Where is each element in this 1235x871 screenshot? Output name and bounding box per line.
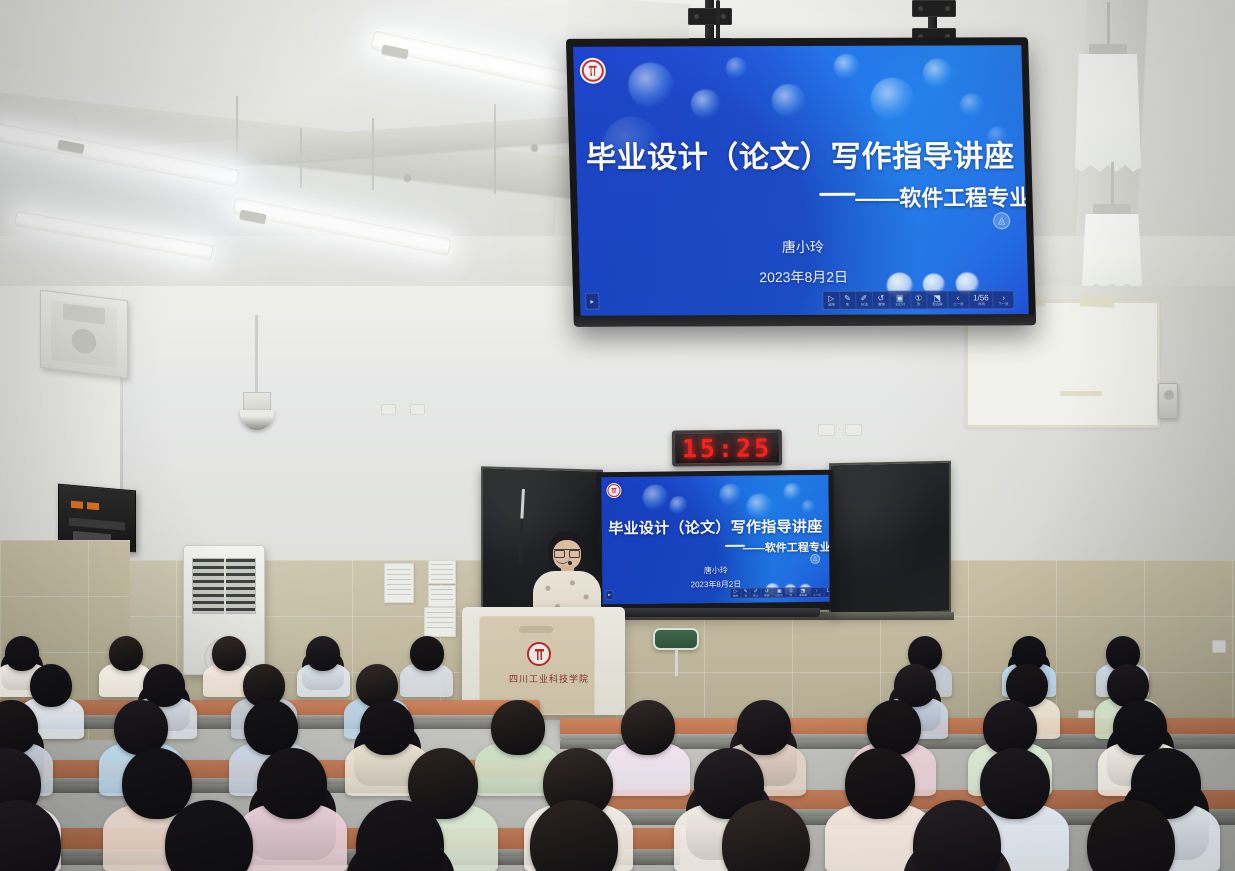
slide-subtitle: ——软件工程专业 [855, 180, 1029, 213]
slide-title: 毕业设计（论文）写作指导讲座 [585, 131, 1015, 176]
ppt-tool-glyph: ▣ [896, 294, 904, 302]
university-logo-icon [606, 483, 621, 498]
ppt-tool-label: 放映 [733, 594, 738, 597]
ppt-tool-7[interactable]: ‹上一页 [948, 291, 969, 308]
wall-notice [384, 563, 414, 603]
audience-head [114, 700, 168, 755]
ppt-tool-label: 页 [790, 594, 793, 597]
presentation-toolbar[interactable]: ▷放映✎笔✐标注↺撤销▣幻灯片①页⬔黑白屏‹上一页1/56页码›下一页 [822, 290, 1015, 310]
audience-head [621, 700, 675, 755]
slide-lower: 毕业设计（论文）写作指导讲座 ——软件工程专业 唐小玲 2023年8月2日 ◬ … [601, 475, 829, 604]
ppt-menu-button[interactable]: ▸ [585, 293, 599, 310]
audience-head [845, 748, 915, 819]
audience-member [356, 800, 444, 871]
ppt-tool-5[interactable]: ①页 [787, 588, 797, 597]
slide-author: 唐小玲 [782, 237, 825, 257]
wall-notice [428, 560, 456, 584]
wall-notice [424, 607, 456, 637]
audience-member [306, 636, 340, 687]
ppt-menu-glyph: ▸ [590, 297, 594, 305]
ppt-tool-4[interactable]: ▣幻灯片 [890, 292, 911, 309]
slide-dash [819, 192, 855, 195]
wall-notice [428, 585, 456, 607]
audience-member [165, 800, 253, 871]
wall-switch-plate[interactable] [818, 424, 835, 436]
audience-member [212, 636, 246, 687]
pendant-light-fixture [1075, 48, 1141, 166]
wall-switch-plate[interactable] [410, 404, 425, 415]
tv-mount-plate [912, 0, 956, 17]
tv-mount-plate [688, 8, 732, 25]
wall-outlet[interactable] [1212, 640, 1226, 653]
audience-head [722, 800, 810, 871]
ppt-tool-label: 页 [917, 302, 920, 305]
camera-stem [255, 315, 258, 397]
ppt-tool-2[interactable]: ✐标注 [856, 292, 873, 309]
slide-date: 2023年8月2日 [759, 266, 848, 286]
audience-head [109, 636, 143, 671]
audience-member [0, 800, 61, 871]
ppt-tool-label: 撤销 [764, 594, 769, 597]
ppt-tool-label: 上一页 [813, 594, 821, 597]
ppt-tool-label: 上一页 [953, 302, 963, 305]
ppt-tool-1[interactable]: ✎笔 [840, 292, 856, 309]
ppt-tool-label: 放映 [828, 303, 835, 306]
ppt-tool-8[interactable]: 1/56页码 [824, 588, 829, 597]
audience-head [0, 800, 61, 871]
ppt-menu-button[interactable]: ▸ [606, 590, 614, 600]
display-stand [612, 608, 820, 617]
ppt-tool-label: 黑白屏 [932, 302, 942, 305]
pendant-light-fixture [1082, 208, 1142, 282]
wall-switch-plate[interactable] [845, 424, 862, 436]
chair-backrest [653, 628, 699, 650]
audience-head [356, 800, 444, 871]
audience-head [1087, 800, 1175, 871]
ppt-tool-label: 笔 [745, 594, 748, 597]
wall-speaker-right [1158, 383, 1178, 419]
ppt-tool-glyph: ‹ [957, 294, 960, 302]
audience-member [109, 636, 143, 687]
ppt-tool-label: 页码 [829, 593, 830, 596]
ceiling-conduit [372, 118, 374, 190]
audience-member [621, 700, 675, 781]
ppt-tool-label: 笔 [846, 303, 849, 306]
ppt-tool-label: 下一页 [999, 302, 1009, 305]
ppt-tool-glyph: ① [915, 294, 922, 302]
ppt-tool-8[interactable]: 1/56页码 [969, 291, 994, 308]
audience-head [983, 700, 1037, 755]
ppt-tool-label: 黑白屏 [799, 594, 807, 597]
audience-member [491, 700, 545, 781]
ceiling-flat-panel-display[interactable]: 毕业设计（论文）写作指导讲座 ——软件工程专业 唐小玲 2023年8月2日 ◬ … [566, 37, 1036, 327]
ppt-tool-1[interactable]: ✎笔 [742, 589, 751, 598]
ppt-tool-label: 撤销 [878, 302, 885, 305]
ppt-tool-7[interactable]: ‹上一页 [810, 588, 824, 597]
audience-member [257, 748, 327, 853]
ppt-tool-0[interactable]: ▷放映 [823, 292, 840, 309]
audience-head [212, 636, 246, 671]
ppt-tool-0[interactable]: ▷放映 [731, 589, 742, 598]
wall-switch-plate[interactable] [381, 404, 396, 415]
audience-member [530, 800, 618, 871]
ppt-tool-3[interactable]: ↺撤销 [873, 292, 890, 309]
led-wall-clock: 15:25 [672, 430, 782, 467]
audience-head [360, 700, 414, 755]
clock-time: 15:25 [682, 433, 773, 463]
slide-author: 唐小玲 [704, 565, 728, 576]
audience-head [410, 636, 444, 671]
audience-head [257, 748, 327, 819]
audience-head [491, 700, 545, 755]
audience-member [913, 800, 1001, 871]
audience-head [306, 636, 340, 671]
ppt-tool-label: 幻灯片 [776, 594, 784, 597]
ppt-tool-glyph: 1/56 [973, 294, 989, 302]
ppt-tool-glyph: ⬔ [933, 294, 941, 302]
ppt-tool-label: 页码 [978, 302, 985, 305]
ceiling-conduit [494, 104, 496, 194]
ppt-tool-9[interactable]: ›下一页 [993, 291, 1013, 308]
slide-watermark-badge: ◬ [993, 212, 1010, 229]
ppt-tool-6[interactable]: ⬔黑白屏 [796, 588, 810, 597]
audience-head [913, 800, 1001, 871]
slide-subtitle: ——软件工程专业 [743, 538, 830, 555]
audience-head [867, 700, 921, 755]
ceiling-fitting [404, 174, 411, 181]
audience-head [530, 800, 618, 871]
slide-main: 毕业设计（论文）写作指导讲座 ——软件工程专业 唐小玲 2023年8月2日 ◬ … [573, 45, 1029, 315]
lectern: 四川工业科技学院 [462, 607, 625, 715]
ppt-tool-label: 标注 [753, 594, 758, 597]
interactive-whiteboard-display[interactable]: 毕业设计（论文）写作指导讲座 ——软件工程专业 唐小玲 2023年8月2日 ◬ … [596, 470, 834, 612]
audience-head [1113, 700, 1167, 755]
ppt-menu-glyph: ▸ [608, 592, 611, 598]
slide-title: 毕业设计（论文）写作指导讲座 [608, 515, 822, 538]
university-emblem-icon [527, 642, 551, 666]
slide-dash [725, 544, 745, 546]
audience-member [360, 700, 414, 781]
lecture-hall-photo: 15:25 毕业设计（论文）写作指导讲座 ——软件工程专业 唐小玲 2023年8… [0, 0, 1235, 871]
ppt-tool-glyph: ✎ [844, 294, 851, 302]
blackboard-right [829, 461, 951, 616]
glasses-icon [554, 549, 580, 555]
audience-member [1087, 800, 1175, 871]
ppt-tool-glyph: › [1002, 294, 1005, 302]
ppt-tool-label: 标注 [861, 303, 868, 306]
audience-member [410, 636, 444, 687]
ppt-tool-4[interactable]: ▣幻灯片 [773, 588, 787, 597]
lectern-institution-name: 四川工业科技学院 [501, 672, 597, 685]
ceiling-conduit [236, 96, 238, 166]
ceiling-fitting [531, 144, 538, 151]
ppt-tool-5[interactable]: ①页 [911, 292, 928, 309]
ppt-tool-6[interactable]: ⬔黑白屏 [927, 291, 948, 308]
presentation-toolbar[interactable]: ▷放映✎笔✐标注↺撤销▣幻灯片①页⬔黑白屏‹上一页1/56页码›下一页 [730, 587, 830, 599]
ppt-tool-3[interactable]: ↺撤销 [762, 588, 773, 597]
fluorescent-tube-light [370, 30, 579, 92]
ceiling-conduit [300, 128, 302, 188]
ppt-tool-glyph: ▷ [828, 294, 834, 302]
audience-member [722, 800, 810, 871]
slide-watermark-badge: ◬ [810, 554, 820, 564]
audience-member [845, 748, 915, 853]
ppt-tool-2[interactable]: ✐标注 [751, 589, 762, 598]
audience-head [165, 800, 253, 871]
wall-speaker-left [40, 290, 128, 379]
audience-head [737, 700, 791, 755]
ppt-tool-glyph: ↺ [877, 294, 884, 302]
ppt-tool-glyph: ✐ [860, 294, 867, 302]
university-logo-icon [579, 58, 606, 84]
audience-head [244, 700, 298, 755]
ppt-tool-label: 幻灯片 [895, 302, 905, 305]
